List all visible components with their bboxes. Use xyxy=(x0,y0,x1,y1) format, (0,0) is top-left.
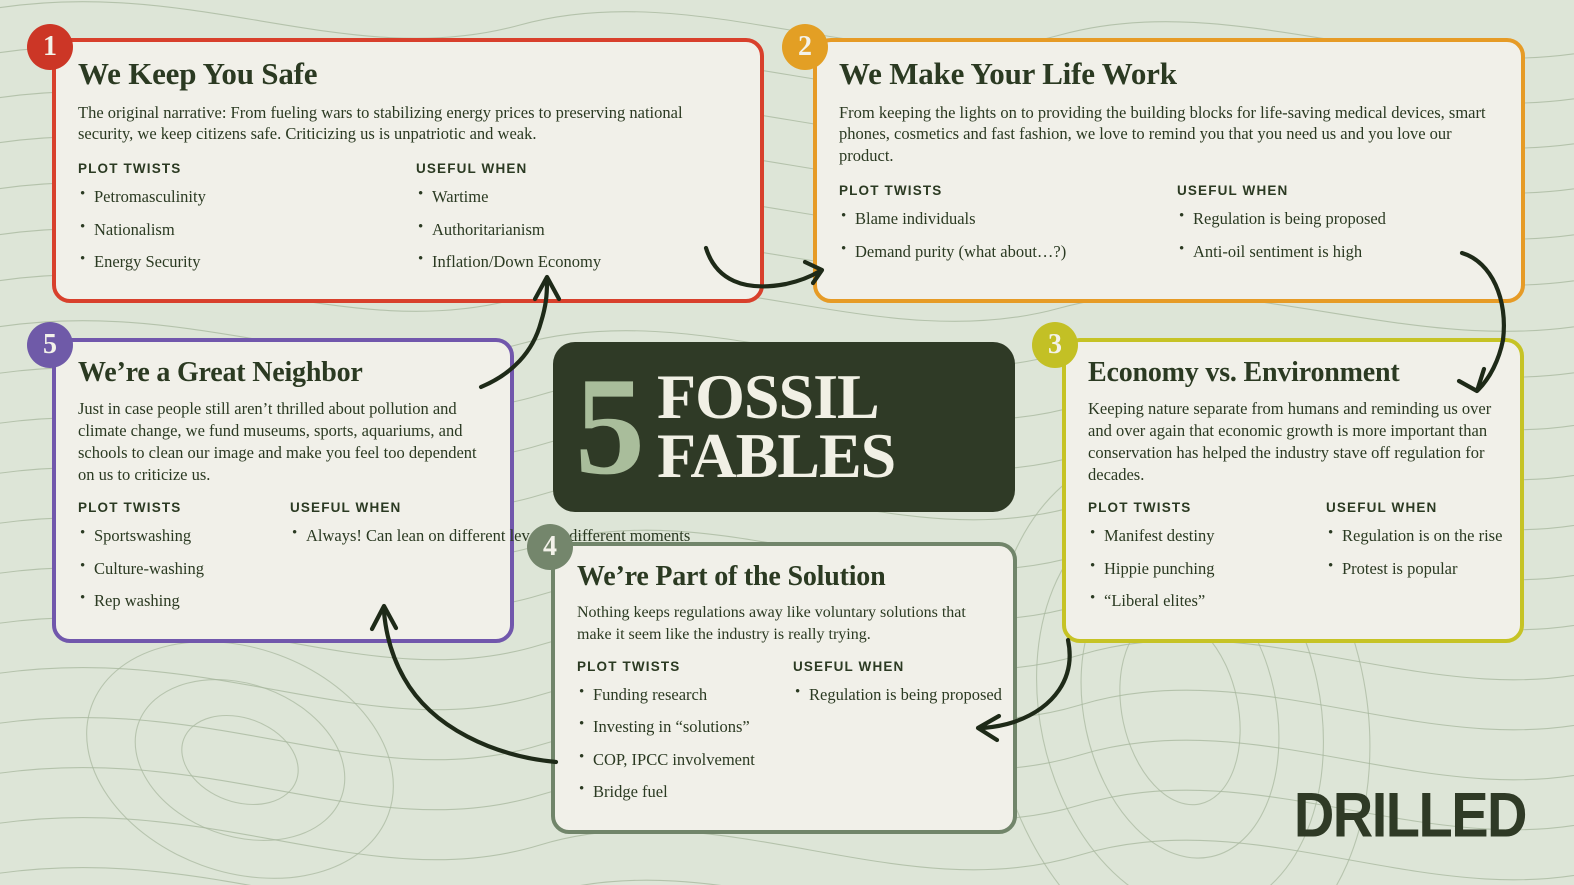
card-4-columns: PLOT TWISTS Funding research Investing i… xyxy=(577,659,991,814)
list-item: COP, IPCC involvement xyxy=(593,749,793,770)
card-3-columns: PLOT TWISTS Manifest destiny Hippie punc… xyxy=(1088,500,1498,622)
list-item: Culture-washing xyxy=(94,558,290,579)
card-1-useful-when-column: USEFUL WHEN Wartime Authoritarianism Inf… xyxy=(416,161,601,283)
list-item: “Liberal elites” xyxy=(1104,590,1326,611)
card-3-plot-twists-list: Manifest destiny Hippie punching “Libera… xyxy=(1088,525,1326,611)
card-1-plot-twists-list: Petromasculinity Nationalism Energy Secu… xyxy=(78,186,416,272)
card-5-columns: PLOT TWISTS Sportswashing Culture-washin… xyxy=(78,500,488,622)
center-line-2: FABLES xyxy=(657,427,895,486)
infographic-stage: We Keep You Safe The original narrative:… xyxy=(0,0,1574,885)
list-item: Regulation is on the rise xyxy=(1342,525,1502,546)
card-4-plot-twists-column: PLOT TWISTS Funding research Investing i… xyxy=(577,659,793,814)
card-5-plot-twists-label: PLOT TWISTS xyxy=(78,500,290,515)
card-4-plot-twists-list: Funding research Investing in “solutions… xyxy=(577,684,793,803)
card-3-useful-when-column: USEFUL WHEN Regulation is on the rise Pr… xyxy=(1326,500,1502,622)
list-item: Wartime xyxy=(432,186,601,207)
card-2-number-badge: 2 xyxy=(782,24,828,70)
list-item: Anti-oil sentiment is high xyxy=(1193,241,1386,262)
card-5-plot-twists-list: Sportswashing Culture-washing Rep washin… xyxy=(78,525,290,611)
list-item: Protest is popular xyxy=(1342,558,1502,579)
list-item: Demand purity (what about…?) xyxy=(855,241,1177,262)
fable-card-3: Economy vs. Environment Keeping nature s… xyxy=(1062,338,1524,643)
card-2-plot-twists-column: PLOT TWISTS Blame individuals Demand pur… xyxy=(839,183,1177,273)
card-4-plot-twists-label: PLOT TWISTS xyxy=(577,659,793,674)
card-3-title: Economy vs. Environment xyxy=(1088,358,1498,387)
list-item: Blame individuals xyxy=(855,208,1177,229)
card-4-useful-when-list: Regulation is being proposed xyxy=(793,684,1002,705)
card-1-useful-when-label: USEFUL WHEN xyxy=(416,161,601,176)
list-item: Regulation is being proposed xyxy=(809,684,1002,705)
fable-card-5: We’re a Great Neighbor Just in case peop… xyxy=(52,338,514,643)
center-wordmark: FOSSIL FABLES xyxy=(657,368,895,486)
card-1-plot-twists-column: PLOT TWISTS Petromasculinity Nationalism… xyxy=(78,161,416,283)
card-1-plot-twists-label: PLOT TWISTS xyxy=(78,161,416,176)
card-2-plot-twists-list: Blame individuals Demand purity (what ab… xyxy=(839,208,1177,262)
card-2-useful-when-list: Regulation is being proposed Anti-oil se… xyxy=(1177,208,1386,262)
card-1-useful-when-list: Wartime Authoritarianism Inflation/Down … xyxy=(416,186,601,272)
card-1-description: The original narrative: From fueling war… xyxy=(78,102,738,146)
card-5-description: Just in case people still aren’t thrille… xyxy=(78,398,488,486)
center-line-1: FOSSIL xyxy=(657,368,895,427)
center-title-badge: 5 FOSSIL FABLES xyxy=(553,342,1015,512)
list-item: Investing in “solutions” xyxy=(593,716,793,737)
card-1-title: We Keep You Safe xyxy=(78,58,738,91)
card-4-title: We’re Part of the Solution xyxy=(577,562,991,591)
card-2-title: We Make Your Life Work xyxy=(839,58,1499,91)
list-item: Bridge fuel xyxy=(593,781,793,802)
list-item: Rep washing xyxy=(94,590,290,611)
list-item: Nationalism xyxy=(94,219,416,240)
card-5-plot-twists-column: PLOT TWISTS Sportswashing Culture-washin… xyxy=(78,500,290,622)
card-3-plot-twists-column: PLOT TWISTS Manifest destiny Hippie punc… xyxy=(1088,500,1326,622)
card-4-useful-when-column: USEFUL WHEN Regulation is being proposed xyxy=(793,659,1002,814)
card-3-plot-twists-label: PLOT TWISTS xyxy=(1088,500,1326,515)
card-2-description: From keeping the lights on to providing … xyxy=(839,102,1499,168)
list-item: Energy Security xyxy=(94,251,416,272)
card-1-columns: PLOT TWISTS Petromasculinity Nationalism… xyxy=(78,161,738,283)
list-item: Inflation/Down Economy xyxy=(432,251,601,272)
card-2-columns: PLOT TWISTS Blame individuals Demand pur… xyxy=(839,183,1499,273)
card-2-plot-twists-label: PLOT TWISTS xyxy=(839,183,1177,198)
card-3-useful-when-label: USEFUL WHEN xyxy=(1326,500,1502,515)
fable-card-2: We Make Your Life Work From keeping the … xyxy=(813,38,1525,303)
card-3-description: Keeping nature separate from humans and … xyxy=(1088,398,1498,486)
list-item: Petromasculinity xyxy=(94,186,416,207)
card-2-useful-when-label: USEFUL WHEN xyxy=(1177,183,1386,198)
list-item: Authoritarianism xyxy=(432,219,601,240)
list-item: Regulation is being proposed xyxy=(1193,208,1386,229)
list-item: Sportswashing xyxy=(94,525,290,546)
fable-card-1: We Keep You Safe The original narrative:… xyxy=(52,38,764,303)
card-4-description: Nothing keeps regulations away like volu… xyxy=(577,602,991,645)
drilled-logo: DRILLED xyxy=(1294,778,1526,851)
card-4-useful-when-label: USEFUL WHEN xyxy=(793,659,1002,674)
card-1-number-badge: 1 xyxy=(27,24,73,70)
list-item: Hippie punching xyxy=(1104,558,1326,579)
card-5-number-badge: 5 xyxy=(27,322,73,368)
center-numeral: 5 xyxy=(575,370,641,485)
card-4-number-badge: 4 xyxy=(527,524,573,570)
card-5-title: We’re a Great Neighbor xyxy=(78,358,488,387)
fable-card-4: We’re Part of the Solution Nothing keeps… xyxy=(551,542,1017,834)
card-2-useful-when-column: USEFUL WHEN Regulation is being proposed… xyxy=(1177,183,1386,273)
list-item: Funding research xyxy=(593,684,793,705)
card-3-number-badge: 3 xyxy=(1032,322,1078,368)
list-item: Manifest destiny xyxy=(1104,525,1326,546)
card-3-useful-when-list: Regulation is on the rise Protest is pop… xyxy=(1326,525,1502,579)
